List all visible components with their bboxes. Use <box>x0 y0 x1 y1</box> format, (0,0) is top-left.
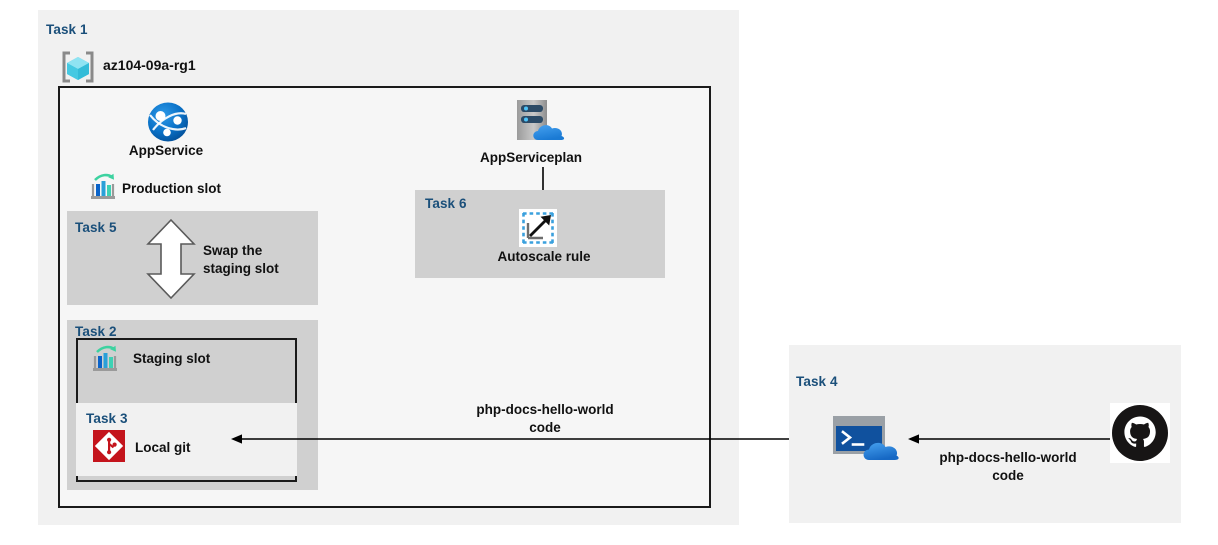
staging-slot-label: Staging slot <box>133 351 210 368</box>
autoscale-arrow-icon <box>519 209 557 247</box>
task1-label: Task 1 <box>46 22 88 37</box>
center-flow-label-line1: php-docs-hello-world <box>476 402 613 419</box>
swap-action-line2: staging slot <box>203 261 279 278</box>
autoscale-rule-label: Autoscale rule <box>497 249 590 266</box>
resource-group-cube-icon <box>58 50 98 84</box>
github-octocat-icon <box>1110 403 1170 463</box>
task2-label: Task 2 <box>75 324 117 339</box>
git-logo-icon <box>93 430 125 462</box>
diagram-canvas: Task 1 az104-09a-rg1 <box>0 0 1218 545</box>
deployment-slot-icon <box>90 345 120 373</box>
arrow-cloudshell-to-localgit <box>228 430 818 448</box>
task5-label: Task 5 <box>75 220 117 235</box>
task4-transfer-label-line1: php-docs-hello-world <box>939 450 1076 467</box>
appserviceplan-label: AppServiceplan <box>480 150 582 167</box>
swap-action-line1: Swap the <box>203 243 262 260</box>
app-service-globe-icon <box>146 101 190 143</box>
cloud-shell-icon <box>831 414 901 464</box>
production-slot-label: Production slot <box>122 181 221 198</box>
resource-group-name: az104-09a-rg1 <box>103 57 196 75</box>
task4-transfer-label-line2: code <box>992 468 1024 485</box>
app-service-plan-server-cloud-icon <box>512 98 572 146</box>
deployment-slot-icon <box>88 173 118 201</box>
task4-label: Task 4 <box>796 374 838 389</box>
appservice-label: AppService <box>129 143 203 160</box>
swap-double-arrow-icon <box>143 218 199 300</box>
task3-label: Task 3 <box>86 411 128 426</box>
task6-label: Task 6 <box>425 196 467 211</box>
arrow-github-to-cloudshell <box>905 430 1113 448</box>
local-git-label: Local git <box>135 440 191 457</box>
